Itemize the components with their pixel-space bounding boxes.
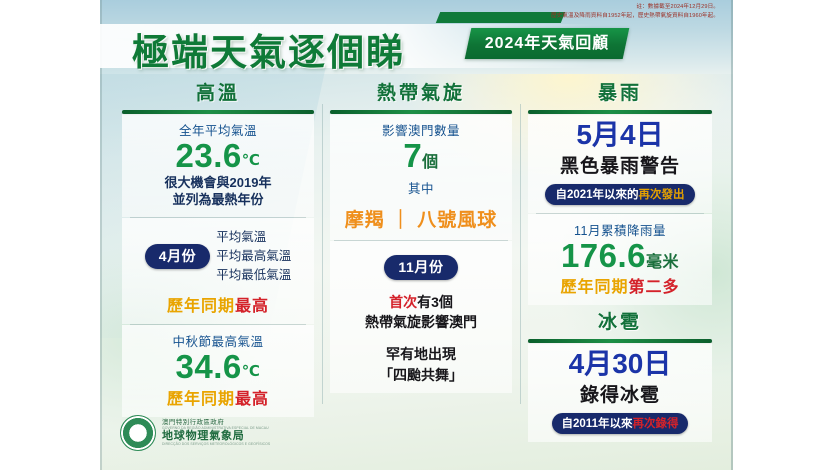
rain-warning-pill-wrap: 自2021年以來的再次發出 [532,184,708,205]
heat-midautumn-highlight-prefix: 歷年同期 [167,391,235,408]
year-review-banner-label: 2024年天氣回顧 [468,28,626,59]
section-rainstorm: 暴雨 5月4日 黑色暴雨警告 自2021年以來的再次發出 11月累積降雨量 [524,78,716,442]
heat-april-row: 4月份 平均氣溫 平均最高氣溫 平均最低氣溫 [126,228,310,286]
cyclone-november-line-1-red: 首次 [389,294,417,310]
heat-april-item-1: 平均最高氣溫 [216,247,291,266]
agency-bureau-name-en: DIRECÇÃO DOS SERVIÇOS METEOROLÓGICOS E G… [162,443,270,447]
heat-april-highlight-prefix: 歷年同期 [167,298,235,315]
section-high-temperature: 高溫 全年平均氣溫 23.6℃ 很大機會與2019年 並列為最熱年份 4月份 [118,78,318,417]
heat-april-items: 平均氣溫 平均最高氣溫 平均最低氣溫 [216,228,291,286]
rain-warning-date: 5月4日 [532,120,708,151]
rain-warning-desc: 黑色暴雨警告 [532,151,708,178]
cyclone-november-line-4: 「四颱共舞」 [334,365,508,385]
heat-midautumn-unit: ℃ [242,363,261,380]
rain-card-november-total: 11月累積降雨量 176.6毫米 歷年同期第二多 [528,214,712,306]
page-title: 極端天氣逐個睇 [132,22,405,76]
cyclone-count-number: 7 [403,137,422,174]
cyclone-tags: 摩羯 ｜ 八號風球 [334,205,508,232]
agency-logo-text: 澳門特別行政區政府 GOVERNO DA REGIÃO ADMINISTRATI… [162,419,270,447]
cyclone-november-line-2: 熱帶氣旋影響澳門 [334,312,508,332]
section-heading-cyclone: 熱帶氣旋 [326,78,516,105]
rain-nov-highlight-suffix: 第二多 [629,279,680,296]
note-line-1: 註：數據截至2024年12月29日。 [389,3,719,12]
year-review-banner: 2024年天氣回顧 [465,28,630,59]
heat-april-badge: 4月份 [145,244,211,269]
section-heading-rain: 暴雨 [524,78,716,105]
cyclone-november-badge-wrap: 11月份 [334,255,508,280]
rain-warning-pill-highlight: 再次發出 [639,189,685,201]
columns-container: 高溫 全年平均氣溫 23.6℃ 很大機會與2019年 並列為最熱年份 4月份 [100,78,733,408]
rain-nov-highlight-prefix: 歷年同期 [560,279,628,296]
screenshot-frame: 註：數據截至2024年12月29日。 歷史氣溫及降雨資料自1952年起，歷史熱帶… [0,0,840,470]
rain-nov-unit: 毫米 [646,254,679,271]
section-tropical-cyclone: 熱帶氣旋 影響澳門數量 7個 其中 摩羯 ｜ 八號風球 11月份 [326,78,516,393]
data-source-note: 註：數據截至2024年12月29日。 歷史氣溫及降雨資料自1952年起，歷史熱帶… [389,3,719,21]
note-line-2: 歷史氣溫及降雨資料自1952年起，歷史熱帶氣旋資料自1960年起。 [389,12,719,21]
cyclone-november-line-1-rest: 有3個 [417,294,453,310]
hail-pill-highlight: 再次錄得 [632,418,678,430]
heat-april-item-2: 平均最低氣溫 [216,266,291,285]
heat-midautumn-number: 34.6 [176,348,242,385]
rain-warning-pill-prefix: 自2021年以來的 [555,189,638,201]
cyclone-count-suffix: 個 [422,154,439,171]
heat-april-highlight-suffix: 最高 [235,298,269,315]
cyclone-november-badge: 11月份 [384,255,457,280]
cyclone-november-line-1: 首次有3個 [334,292,508,312]
column-separator-1 [322,104,323,404]
heat-annual-note-1: 很大機會與2019年 [126,174,310,192]
cyclone-count-value: 7個 [334,139,508,174]
macao-emblem-icon [120,415,156,451]
heat-card-april: 4月份 平均氣溫 平均最高氣溫 平均最低氣溫 歷年同期最高 [122,218,314,324]
heat-annual-note-2: 並列為最熱年份 [126,191,310,209]
heat-midautumn-highlight-suffix: 最高 [235,391,269,408]
hail-desc: 錄得冰雹 [532,380,708,407]
infographic-poster: 註：數據截至2024年12月29日。 歷史氣溫及降雨資料自1952年起，歷史熱帶… [100,0,733,470]
heat-annual-unit: ℃ [242,152,261,169]
heat-april-highlight: 歷年同期最高 [126,292,310,316]
section-heading-heat: 高溫 [118,78,318,105]
hail-pill-prefix: 自2011年以來 [562,418,633,430]
rain-nov-value: 176.6毫米 [532,239,708,274]
section-heading-hail: 冰雹 [524,307,716,334]
heat-annual-number: 23.6 [176,137,242,174]
hail-card: 4月30日 錄得冰雹 自2011年以來再次錄得 [528,343,712,442]
heat-card-midautumn: 中秋節最高氣溫 34.6℃ 歷年同期最高 [122,325,314,417]
heat-midautumn-highlight: 歷年同期最高 [126,385,310,409]
cyclone-mid-label: 其中 [334,178,508,197]
hail-pill-wrap: 自2011年以來再次錄得 [532,413,708,434]
rain-nov-number: 176.6 [561,237,646,274]
hail-pill: 自2011年以來再次錄得 [552,413,689,434]
heat-card-annual: 全年平均氣溫 23.6℃ 很大機會與2019年 並列為最熱年份 [122,114,314,217]
cyclone-november-line-3: 罕有地出現 [334,344,508,364]
column-separator-2 [520,104,521,404]
rain-nov-highlight: 歷年同期第二多 [532,273,708,297]
cyclone-card-november: 11月份 首次有3個 熱帶氣旋影響澳門 罕有地出現 「四颱共舞」 [330,241,512,393]
rain-warning-pill: 自2021年以來的再次發出 [545,184,694,205]
hail-date: 4月30日 [532,349,708,380]
heat-annual-value: 23.6℃ [126,139,310,174]
heat-april-item-0: 平均氣溫 [216,228,291,247]
rain-card-black-warning: 5月4日 黑色暴雨警告 自2021年以來的再次發出 [528,114,712,213]
agency-logo: 澳門特別行政區政府 GOVERNO DA REGIÃO ADMINISTRATI… [120,415,270,451]
cyclone-card-count: 影響澳門數量 7個 其中 摩羯 ｜ 八號風球 [330,114,512,240]
heat-midautumn-value: 34.6℃ [126,350,310,385]
